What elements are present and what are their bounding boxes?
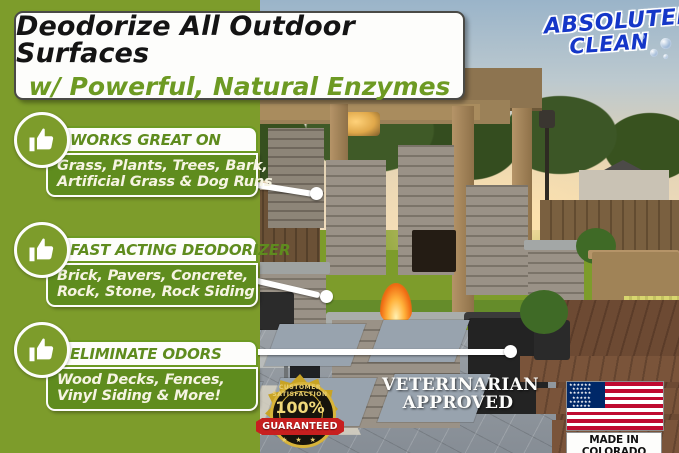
fireplace-opening [412, 230, 456, 272]
feature-callout-3: ELIMINATE ODORS Wood Decks, Fences, Viny… [46, 340, 258, 411]
feature-body-line-2: Artificial Grass & Dog Runs [57, 174, 249, 190]
callout-pointer-line-3 [242, 349, 510, 355]
stepping-stone [368, 320, 469, 362]
thumbs-up-badge-2 [14, 222, 70, 278]
product-marketing-poster: Deodorize All Outdoor Surfaces w/ Powerf… [0, 0, 679, 453]
feature-title-3: ELIMINATE ODORS [46, 340, 258, 367]
brand-logo: ABSOLUTELY CLEAN [543, 8, 675, 75]
feature-body-2: Brick, Pavers, Concrete, Rock, Stone, Ro… [46, 263, 258, 307]
vet-line-2: APPROVED [382, 394, 534, 412]
thumbs-up-icon [27, 235, 57, 265]
callout-pointer-dot-1 [310, 187, 323, 200]
feature-body-line-1: Grass, Plants, Trees, Bark, [57, 158, 249, 174]
thumbs-up-badge-3 [14, 322, 70, 378]
thumbs-up-badge-1 [14, 112, 70, 168]
bubble-icon [650, 49, 659, 58]
seal-stars: ★ ★ ★ [262, 436, 338, 444]
feature-body-line-1: Brick, Pavers, Concrete, [57, 268, 249, 284]
gas-flame [380, 283, 412, 323]
headline-line-1: Deodorize All Outdoor Surfaces [16, 13, 463, 67]
callout-pointer-dot-2 [320, 290, 333, 303]
thumbs-up-icon [27, 335, 57, 365]
stone-chimney [268, 128, 324, 228]
headline-banner: Deodorize All Outdoor Surfaces w/ Powerf… [14, 11, 465, 100]
thumbs-up-icon [27, 125, 57, 155]
made-in-colorado-badge: ★★★★★★ ★★★★★ ★★★★★★ ★★★★★ ★★★★★★ ★★★★★ M… [566, 381, 662, 453]
satisfaction-guarantee-seal: CUSTOMER SATISFACTION 100% GUARANTEED ★ … [262, 374, 338, 450]
stone-wall [326, 160, 386, 275]
origin-caption: MADE IN COLORADO [566, 432, 662, 453]
feature-body-line-2: Rock, Stone, Rock Siding [57, 284, 249, 300]
feature-callout-2: FAST ACTING DEODORIZER Brick, Pavers, Co… [46, 236, 258, 307]
bubble-icon [663, 54, 668, 59]
feature-body-line-1: Wood Decks, Fences, [57, 372, 249, 388]
vet-line-1: VETERINARIAN [382, 376, 534, 394]
feature-callout-1: WORKS GREAT ON Grass, Plants, Trees, Bar… [46, 126, 258, 197]
flag-canton: ★★★★★★ ★★★★★ ★★★★★★ ★★★★★ ★★★★★★ ★★★★★ [567, 382, 605, 408]
seal-ribbon: GUARANTEED [256, 418, 344, 435]
headline-line-2: w/ Powerful, Natural Enzymes [29, 74, 451, 99]
veterinarian-approved-badge: VETERINARIAN APPROVED [382, 376, 534, 412]
feature-body-line-2: Vinyl Siding & More! [57, 388, 249, 404]
seal-percent: 100% [262, 398, 338, 417]
feature-title-1: WORKS GREAT ON [46, 126, 258, 153]
us-flag-icon: ★★★★★★ ★★★★★ ★★★★★★ ★★★★★ ★★★★★★ ★★★★★ [566, 381, 664, 431]
callout-pointer-dot-3 [504, 345, 517, 358]
pavilion-post [330, 104, 348, 164]
lamp-head [539, 110, 555, 128]
feature-title-2: FAST ACTING DEODORIZER [46, 236, 258, 263]
stepping-stone [264, 324, 365, 366]
stone-wall [466, 185, 528, 295]
shrub [520, 290, 568, 334]
feature-body-3: Wood Decks, Fences, Vinyl Siding & More! [46, 367, 258, 411]
seal-arc-text: CUSTOMER SATISFACTION [262, 384, 338, 398]
feature-body-1: Grass, Plants, Trees, Bark, Artificial G… [46, 153, 258, 197]
